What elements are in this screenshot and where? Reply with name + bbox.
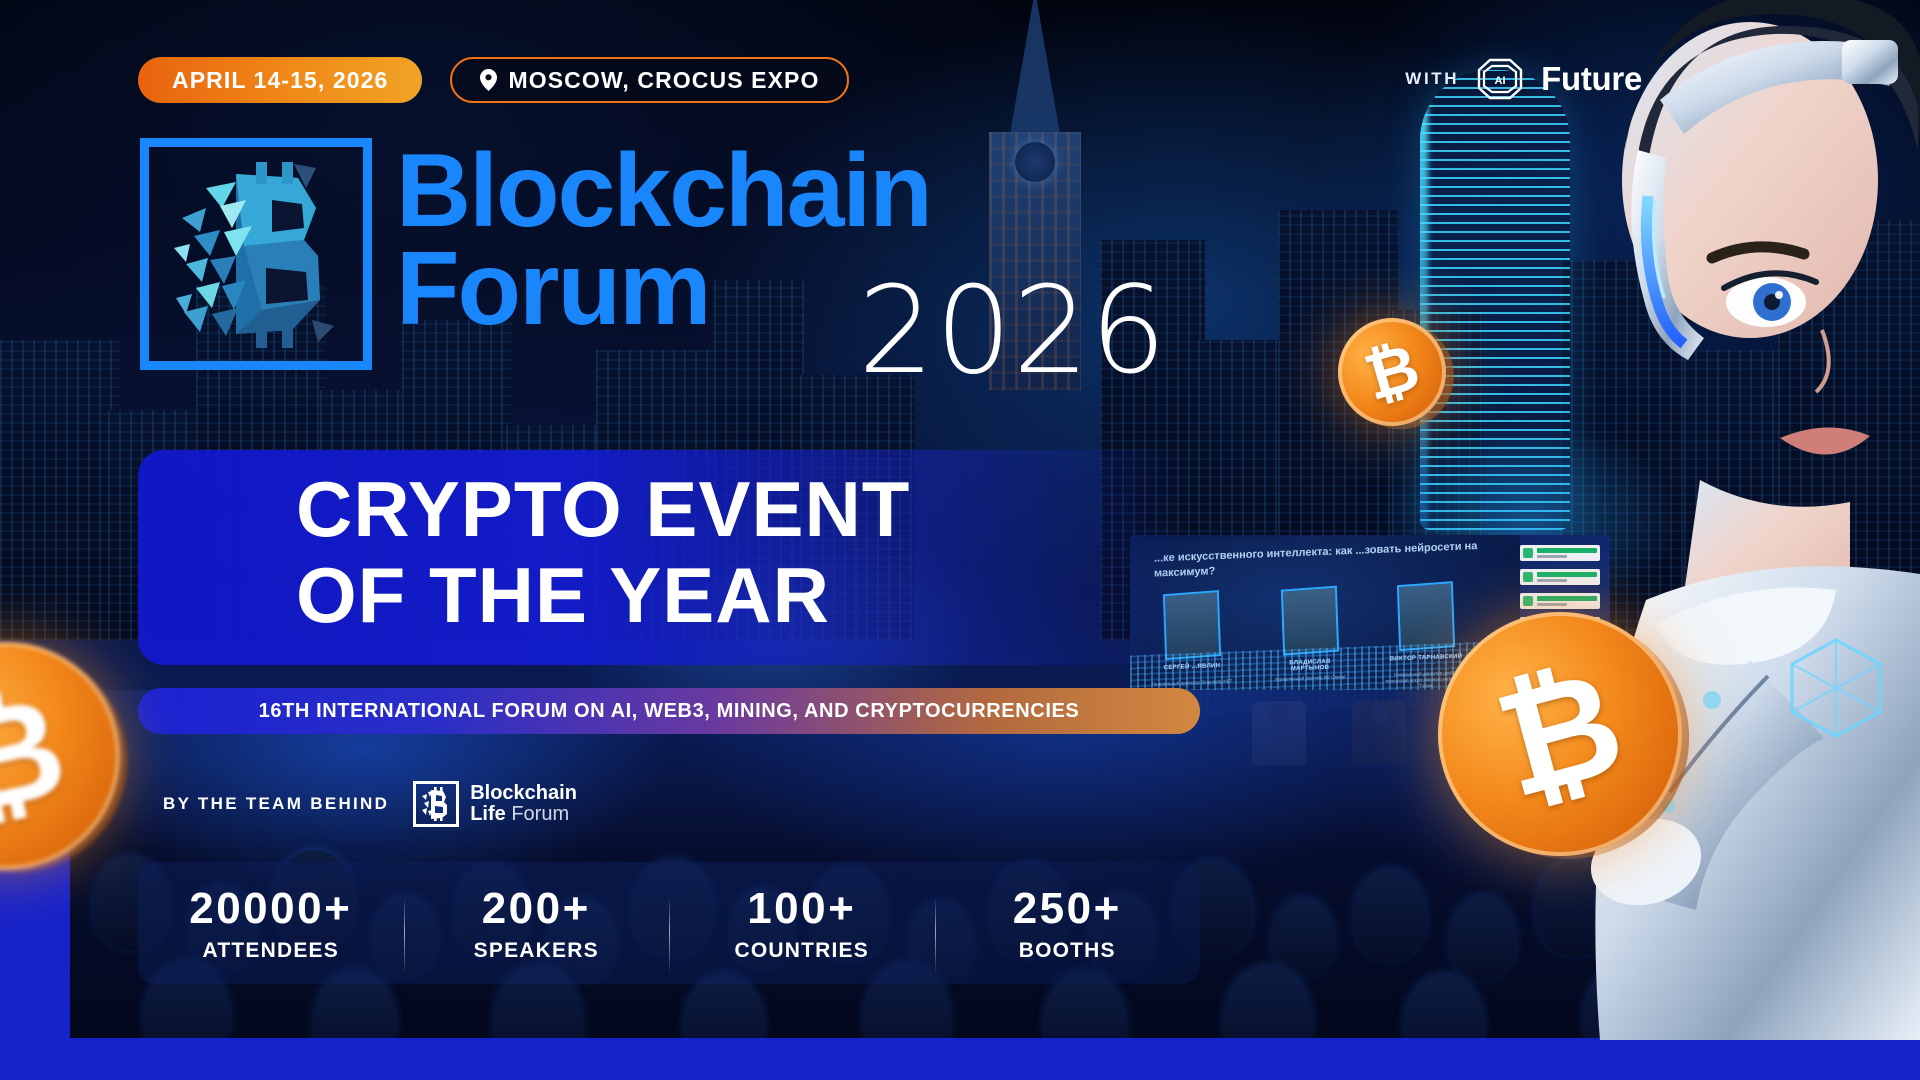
organizer-label: BY THE TEAM BEHIND	[163, 794, 389, 814]
subtitle-banner: 16TH INTERNATIONAL FORUM ON AI, WEB3, MI…	[138, 688, 1200, 734]
blockchain-life-logo[interactable]: Blockchain Life Forum	[413, 781, 577, 827]
bottom-blue-band	[0, 1038, 1920, 1080]
stat-label: COUNTRIES	[669, 939, 935, 963]
location-badge-label: MOSCOW, CROCUS EXPO	[508, 67, 819, 94]
event-logo: Blockchain Forum	[140, 138, 931, 370]
stat-speakers: 200+ SPEAKERS	[404, 883, 670, 963]
top-badges: APRIL 14-15, 2026 MOSCOW, CROCUS EXPO	[138, 57, 849, 103]
stat-label: BOOTHS	[935, 939, 1201, 963]
headline-line-1: CRYPTO EVENT	[296, 466, 910, 552]
partner-name: Future	[1541, 60, 1642, 98]
event-year: 2026	[858, 272, 1167, 392]
stat-number: 250+	[935, 883, 1201, 935]
organizer-credit: BY THE TEAM BEHIND	[163, 781, 577, 827]
stat-number: 20000+	[138, 883, 404, 935]
map-pin-icon	[480, 69, 497, 91]
blockchain-life-b-icon	[413, 781, 459, 827]
event-logo-line-2: Forum	[396, 240, 931, 338]
blockchain-life-line-2-light: Forum	[511, 803, 569, 825]
stat-attendees: 20000+ ATTENDEES	[138, 883, 404, 963]
ai-hexagon-icon: AI	[1477, 58, 1523, 100]
stat-booths: 250+ BOOTHS	[935, 883, 1201, 963]
stats-panel: 20000+ ATTENDEES 200+ SPEAKERS 100+ COUN…	[138, 862, 1200, 984]
partner-lockup: WITH AI Future	[1405, 58, 1642, 100]
date-badge-label: APRIL 14-15, 2026	[172, 67, 388, 94]
stat-number: 200+	[404, 883, 670, 935]
svg-text:AI: AI	[1495, 75, 1506, 87]
stage-screen-headline: ...ке искусственного интеллекта: как ...…	[1154, 539, 1494, 586]
stat-label: SPEAKERS	[404, 939, 670, 963]
subtitle-text: 16TH INTERNATIONAL FORUM ON AI, WEB3, MI…	[259, 700, 1080, 723]
stat-number: 100+	[669, 883, 935, 935]
event-poster: ...ке искусственного интеллекта: как ...…	[0, 0, 1920, 1080]
stat-countries: 100+ COUNTRIES	[669, 883, 935, 963]
location-badge[interactable]: MOSCOW, CROCUS EXPO	[450, 57, 849, 103]
blockchain-life-line-2-bold: Life	[470, 803, 506, 825]
blockchain-life-line-1: Blockchain	[470, 783, 577, 804]
date-badge[interactable]: APRIL 14-15, 2026	[138, 57, 422, 103]
ai-robot-woman	[1450, 0, 1920, 1040]
headline: CRYPTO EVENT OF THE YEAR	[296, 466, 910, 638]
with-label: WITH	[1405, 69, 1459, 89]
fragmented-bitcoin-b-icon	[140, 138, 372, 370]
event-logo-line-1: Blockchain	[396, 142, 931, 240]
event-logo-wordmark: Blockchain Forum	[396, 138, 931, 338]
headline-line-2: OF THE YEAR	[296, 552, 910, 638]
stat-label: ATTENDEES	[138, 939, 404, 963]
